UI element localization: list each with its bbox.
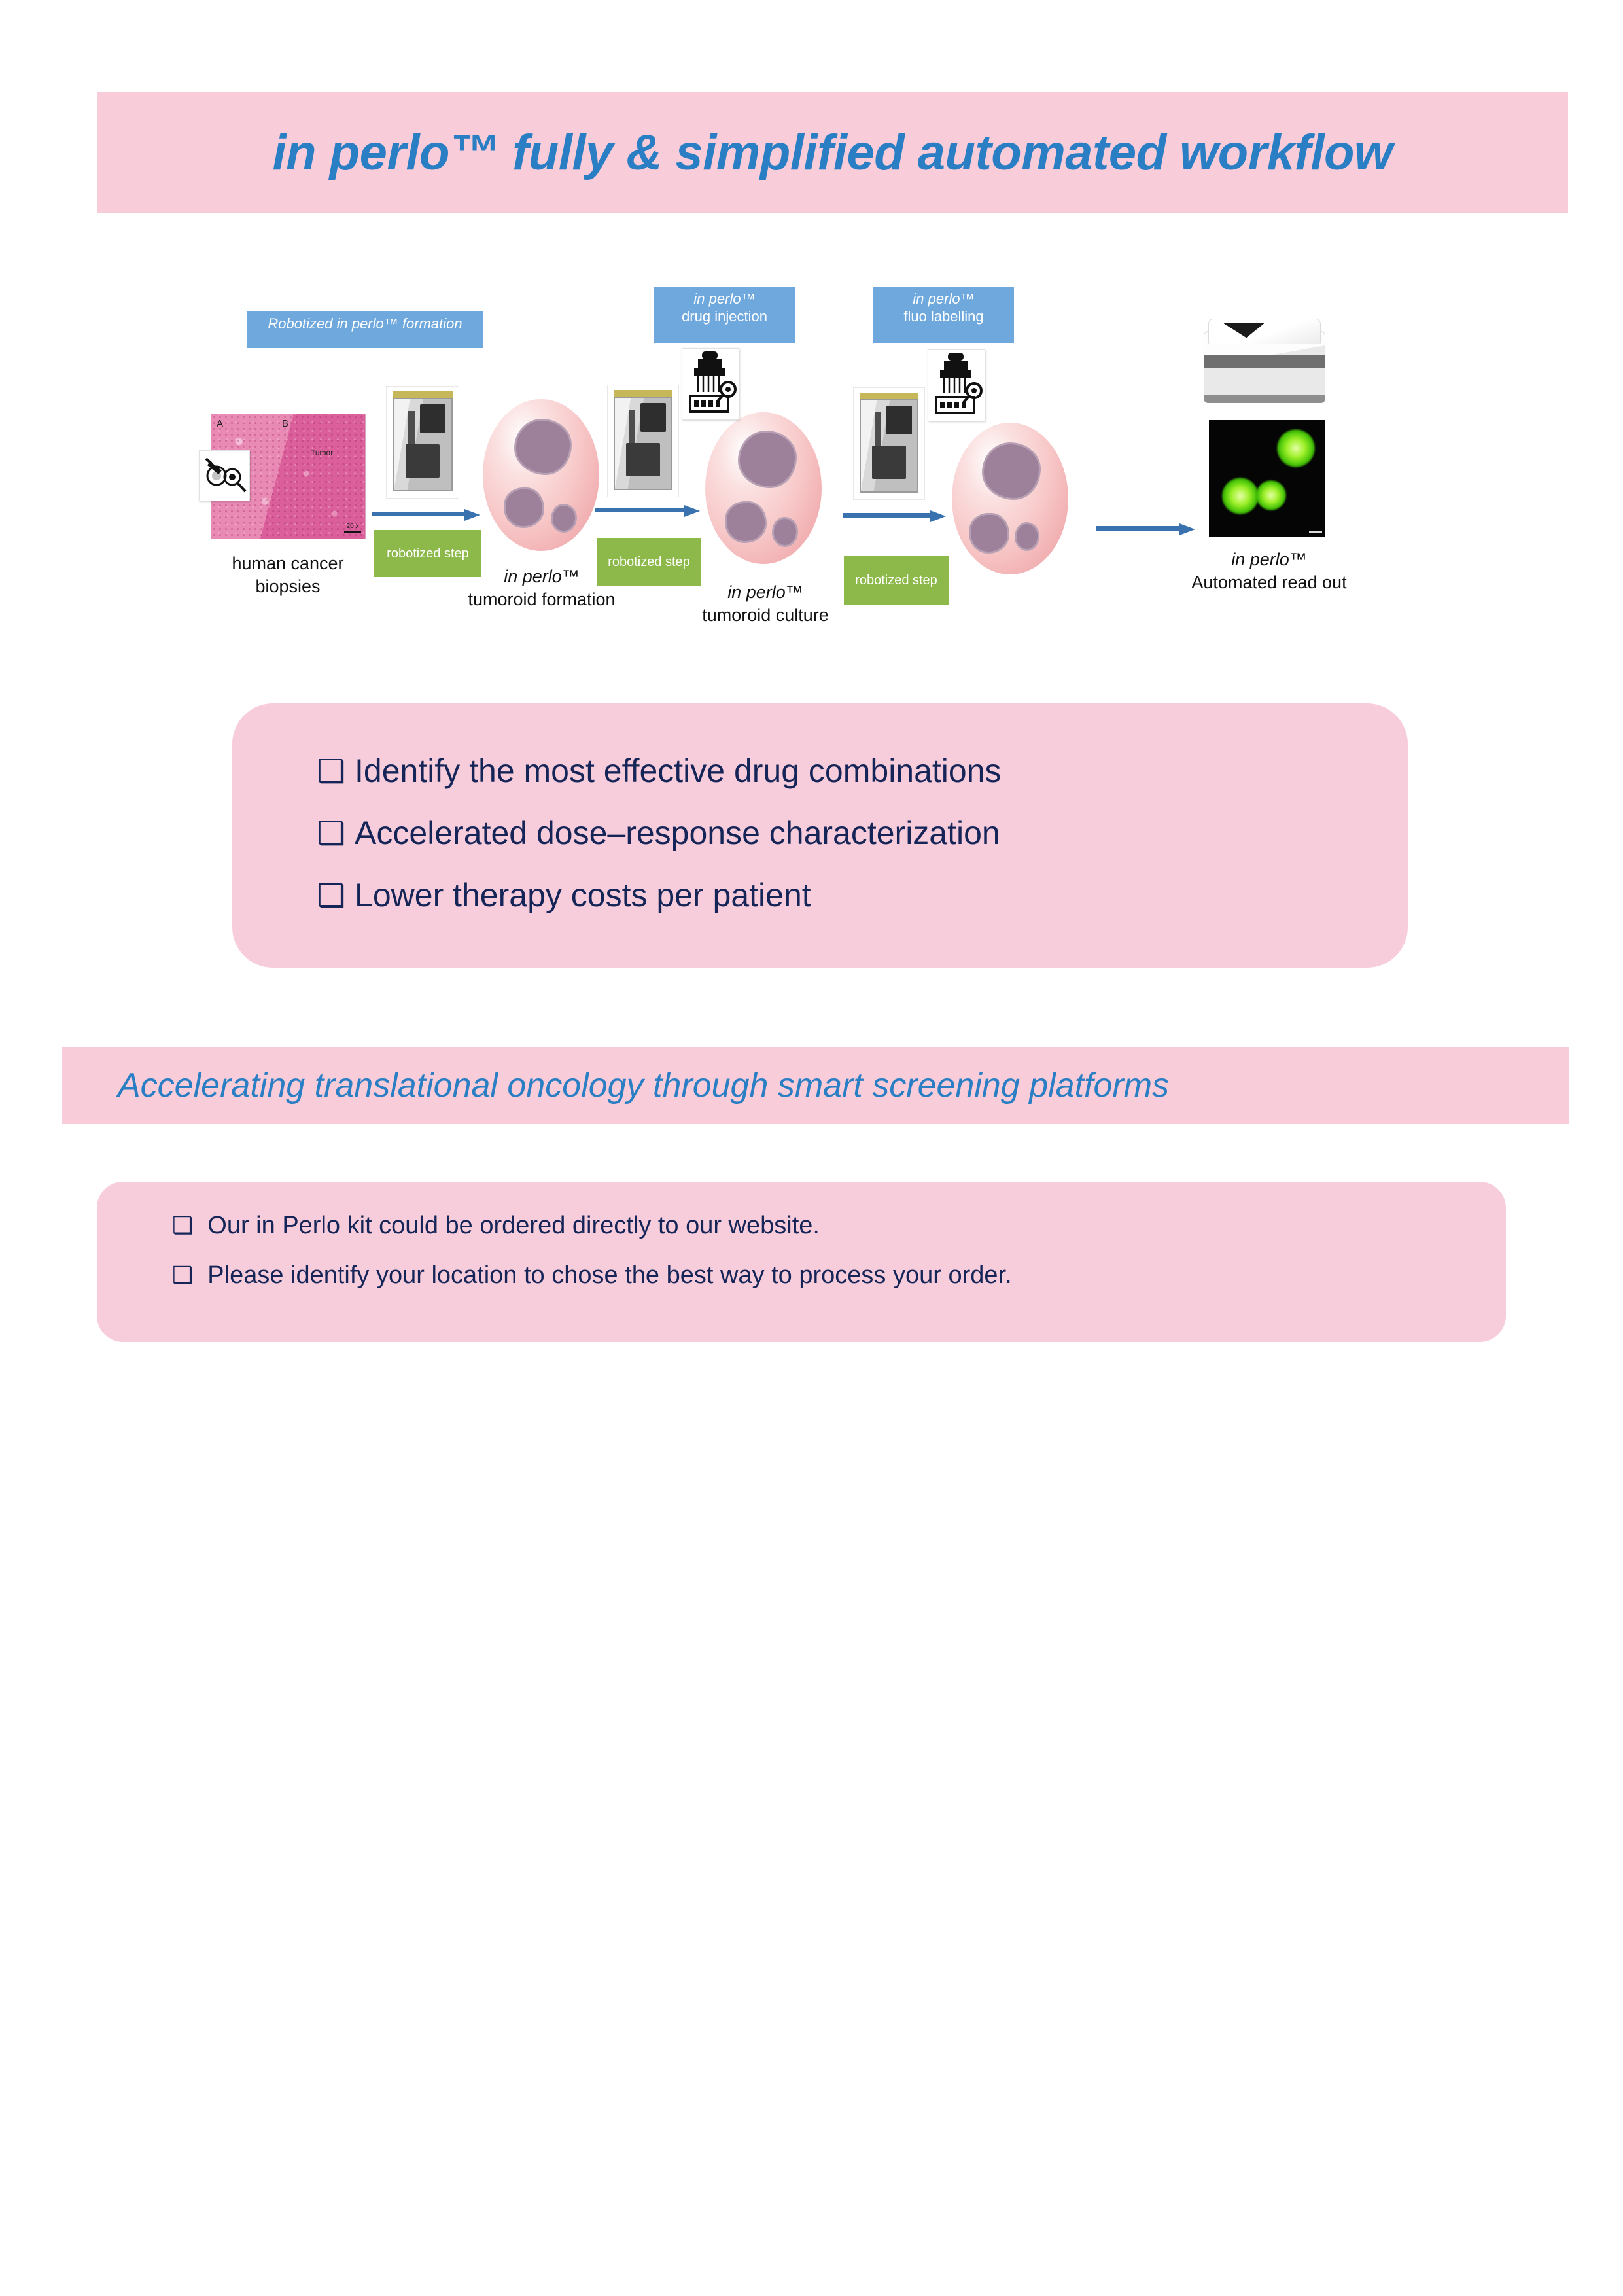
biopsy-region-b-label: B (282, 418, 288, 429)
benefit-label: Identify the most effective drug combina… (355, 754, 1002, 787)
fluo-scale-bar (1309, 531, 1322, 533)
lesion-medium (725, 501, 767, 543)
machine-base (872, 446, 906, 479)
caption-line2: tumoroid formation (468, 590, 615, 609)
fluo-blob-2 (1222, 478, 1259, 514)
robotized-step-chip-3: robotized step (844, 556, 949, 605)
lesion-large (982, 442, 1041, 500)
fluorescence-micrograph (1209, 420, 1325, 537)
caption-line1: in perlo™ (727, 582, 803, 602)
blue-label-line1: in perlo™ (693, 291, 755, 307)
caption-line1: in perlo™ (1231, 550, 1307, 569)
lesion-large (514, 419, 572, 475)
scale-bar-line (344, 531, 361, 533)
biopsy-tumor-label: Tumor (311, 448, 333, 457)
workflow-arrow-3 (843, 510, 946, 520)
benefit-item: ❑ Identify the most effective drug combi… (317, 754, 1408, 788)
workflow-arrow-2 (595, 505, 700, 514)
caption-human-cancer-biopsies: human cancer biopsies (183, 552, 393, 597)
caption-automated-read-out: in perlo™ Automated read out (1164, 548, 1374, 593)
caption-line2: Automated read out (1191, 573, 1346, 592)
caption-line2: tumoroid culture (702, 605, 829, 625)
page-title: in perlo™ fully & simplified automated w… (273, 124, 1393, 181)
workflow-arrow-4 (1096, 523, 1195, 533)
checkbox-bullet-icon: ❑ (317, 819, 345, 850)
blue-label-robotized-formation: Robotized in perlo™ formation (247, 311, 483, 348)
biopsy-scale-bar: 20 x (344, 523, 361, 533)
fluo-blob-1 (1277, 429, 1315, 467)
caption-tumoroid-culture: in perlo™ tumoroid culture (667, 581, 864, 626)
benefits-card: ❑ Identify the most effective drug combi… (232, 703, 1408, 968)
checkbox-bullet-icon: ❑ (172, 1214, 193, 1237)
blue-label-line2: drug injection (682, 308, 767, 325)
spheroid-tumoroid-culture (705, 412, 822, 564)
ordering-card: ❑ Our in Perlo kit could be ordered dire… (97, 1182, 1506, 1342)
lesion-large (738, 431, 797, 488)
arrow-head (684, 505, 700, 517)
workflow-diagram: Robotized in perlo™ formation A B Tumor … (196, 301, 1429, 628)
arrow-shaft (595, 508, 686, 512)
ordering-label: Our in Perlo kit could be ordered direct… (207, 1213, 820, 1238)
machine-head (640, 403, 666, 432)
blue-label-drug-injection: in perlo™ drug injection (654, 287, 795, 343)
ordering-item: ❑ Our in Perlo kit could be ordered dire… (172, 1213, 1506, 1238)
lesion-small (772, 517, 798, 547)
tagline-text: Accelerating translational oncology thro… (62, 1066, 1169, 1105)
biopsy-region-a-label: A (217, 418, 223, 429)
tagline-banner: Accelerating translational oncology thro… (62, 1047, 1569, 1124)
caption-line1: in perlo™ (504, 567, 580, 586)
pipettor-plate-icon-1 (682, 348, 739, 420)
ordering-item: ❑ Please identify your location to chose… (172, 1263, 1506, 1288)
ordering-label: Please identify your location to chose t… (207, 1263, 1011, 1288)
arrow-shaft (1096, 526, 1181, 531)
lesion-medium (504, 487, 544, 528)
lesion-small (1015, 522, 1039, 551)
reader-stripe-upper (1204, 355, 1325, 368)
checkbox-bullet-icon: ❑ (317, 881, 345, 912)
lesion-medium (969, 513, 1009, 554)
arrow-head (930, 510, 946, 522)
blue-label-fluo-labelling: in perlo™ fluo labelling (873, 287, 1014, 343)
biopsy-needle-loupe-icon (199, 450, 250, 501)
arrow-head (464, 509, 480, 521)
robotized-step-chip-2: robotized step (597, 538, 701, 586)
pipettor-plate-icon-2 (928, 349, 985, 421)
benefit-label: Accelerated dose–response characterizati… (355, 817, 1000, 849)
reader-lid (1208, 319, 1320, 344)
caption-line2: biopsies (255, 576, 320, 596)
checkbox-bullet-icon: ❑ (317, 756, 345, 788)
blue-label-line1: Robotized in perlo™ formation (268, 315, 462, 332)
machine-head (420, 404, 446, 433)
checkbox-bullet-icon: ❑ (172, 1263, 193, 1287)
spheroid-tumoroid-formation (483, 399, 599, 551)
lesion-small (551, 504, 577, 533)
fluo-blob-3 (1256, 480, 1286, 510)
robot-machine-photo-2 (607, 385, 679, 497)
arrow-shaft (372, 512, 466, 516)
robot-machine-photo-3 (853, 387, 925, 500)
blue-label-line1: in perlo™ (913, 291, 974, 307)
benefit-label: Lower therapy costs per patient (355, 879, 811, 911)
arrow-head (1179, 523, 1195, 535)
biopsy-scale-text: 20 x (347, 523, 359, 530)
benefit-item: ❑ Lower therapy costs per patient (317, 879, 1408, 912)
automated-reader-instrument (1204, 317, 1325, 408)
reader-stripe-lower (1204, 395, 1325, 403)
header-banner: in perlo™ fully & simplified automated w… (97, 92, 1568, 213)
arrow-shaft (843, 513, 932, 518)
machine-head (886, 406, 912, 434)
blue-label-line2: fluo labelling (903, 308, 983, 325)
workflow-arrow-1 (372, 509, 480, 518)
robot-machine-photo-1 (386, 386, 459, 499)
machine-base (626, 443, 660, 476)
spheroid-fluo-labelled (952, 423, 1068, 574)
machine-base (406, 444, 440, 478)
caption-line1: human cancer (232, 554, 343, 573)
benefit-item: ❑ Accelerated dose–response characteriza… (317, 817, 1408, 850)
